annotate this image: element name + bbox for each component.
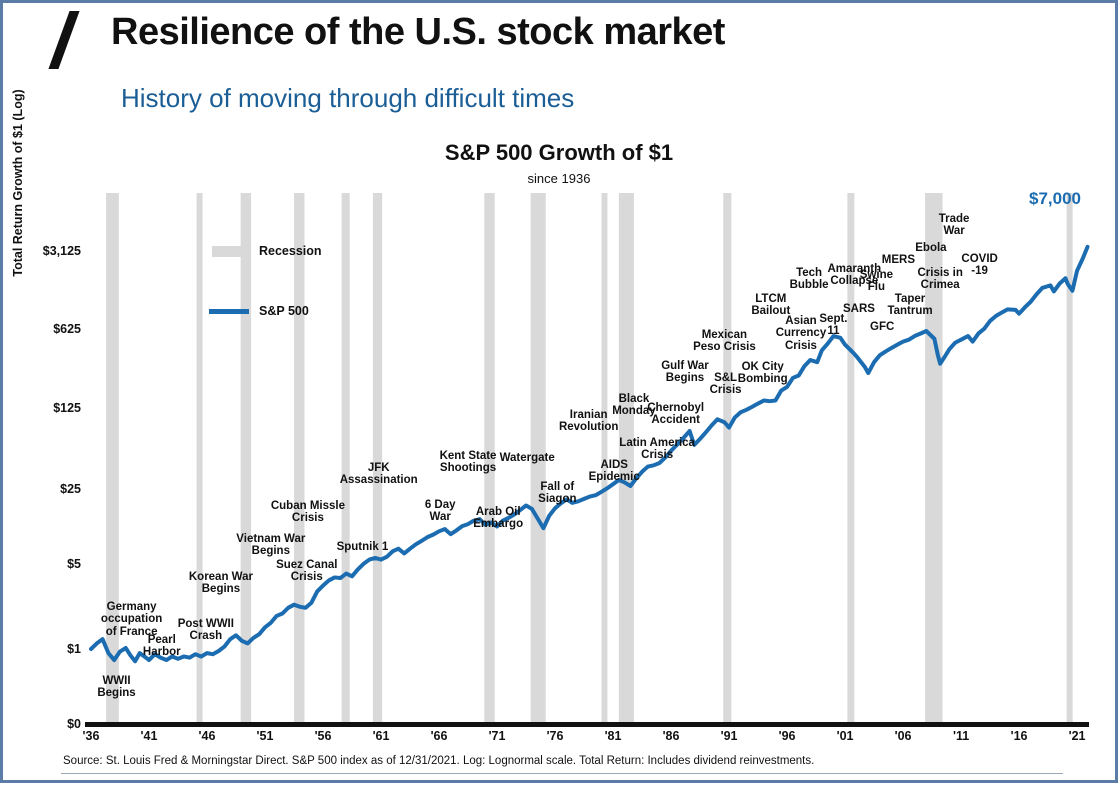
event-annotation: Germany occupation of France xyxy=(101,601,162,638)
recession-band xyxy=(1067,193,1073,724)
event-annotation: Cuban Missle Crisis xyxy=(271,500,345,525)
recession-band xyxy=(106,193,119,724)
source-note: Source: St. Louis Fred & Morningstar Dir… xyxy=(63,755,814,767)
y-tick-label: $625 xyxy=(53,322,81,336)
legend-series-label: S&P 500 xyxy=(259,304,309,318)
event-annotation: Pearl Harbor xyxy=(143,634,181,659)
slide-page: Resilience of the U.S. stock market Hist… xyxy=(0,0,1118,783)
legend-series-swatch xyxy=(209,309,249,314)
event-annotation: Tech Bubble xyxy=(790,267,829,292)
event-annotation: 6 Day War xyxy=(425,499,456,524)
legend-recession-label: Recession xyxy=(259,244,322,258)
chart-subtitle: since 1936 xyxy=(3,171,1115,186)
event-annotation: Kent State Shootings xyxy=(440,450,497,475)
x-tick-label: '76 xyxy=(547,729,564,743)
x-tick-label: '86 xyxy=(663,729,680,743)
source-rule xyxy=(61,773,1063,774)
event-annotation: AIDS Epidemic xyxy=(589,459,640,484)
event-annotation: Latin America Crisis xyxy=(619,437,695,462)
x-tick-label: '71 xyxy=(489,729,506,743)
end-value-label: $7,000 xyxy=(1029,189,1081,209)
y-tick-label: $0 xyxy=(67,717,81,731)
y-tick-label: $125 xyxy=(53,401,81,415)
event-annotation: S&L Crisis xyxy=(710,372,742,397)
event-annotation: Gulf War Begins xyxy=(661,360,709,385)
event-annotation: Ebola xyxy=(915,242,946,254)
x-tick-label: '11 xyxy=(953,729,969,743)
x-tick-label: '61 xyxy=(373,729,390,743)
event-annotation: Sept. 11 xyxy=(819,313,847,338)
recession-band xyxy=(373,193,382,724)
y-tick-label: $5 xyxy=(67,557,81,571)
event-annotation: Korean War Begins xyxy=(189,571,253,596)
x-tick-label: '66 xyxy=(431,729,448,743)
page-title: Resilience of the U.S. stock market xyxy=(111,11,725,54)
event-annotation: Swine Flu xyxy=(860,269,893,294)
event-annotation: JFK Assassination xyxy=(340,462,418,487)
event-annotation: Mexican Peso Crisis xyxy=(693,329,756,354)
x-tick-label: '56 xyxy=(315,729,332,743)
recession-band xyxy=(723,193,731,724)
x-tick-label: '01 xyxy=(837,729,854,743)
x-tick-label: '21 xyxy=(1069,729,1086,743)
event-annotation: WWII Begins xyxy=(97,675,135,700)
event-annotation: COVID -19 xyxy=(961,253,997,278)
x-axis-line xyxy=(85,722,1089,727)
chart-title: S&P 500 Growth of $1 xyxy=(3,140,1115,166)
y-axis-ticks: $3,125$625$125$25$5$1$0 xyxy=(3,3,81,786)
event-annotation: SARS xyxy=(843,303,875,315)
event-annotation: OK City Bombing xyxy=(738,361,788,386)
recession-band xyxy=(197,193,203,724)
legend-recession-swatch xyxy=(212,246,246,257)
y-tick-label: $1 xyxy=(67,642,81,656)
x-tick-label: '41 xyxy=(141,729,158,743)
x-tick-label: '36 xyxy=(83,729,100,743)
event-annotation: MERS xyxy=(882,254,915,266)
event-annotation: Vietnam War Begins xyxy=(236,533,305,558)
event-annotation: Fall of Siagon xyxy=(538,481,576,506)
recession-band xyxy=(294,193,304,724)
event-annotation: Iranian Revolution xyxy=(559,409,618,434)
page-subtitle: History of moving through difficult time… xyxy=(121,83,574,114)
x-tick-label: '46 xyxy=(199,729,216,743)
x-tick-label: '51 xyxy=(257,729,274,743)
x-tick-label: '96 xyxy=(779,729,796,743)
recession-band xyxy=(342,193,350,724)
event-annotation: Post WWII Crash xyxy=(178,618,234,643)
event-annotation: Chernobyl Accident xyxy=(647,402,704,427)
x-tick-label: '16 xyxy=(1011,729,1028,743)
event-annotation: Sputnik 1 xyxy=(337,541,389,553)
event-annotation: Watergate xyxy=(500,452,555,464)
event-annotation: Taper Tantrum xyxy=(887,293,932,318)
x-tick-label: '81 xyxy=(605,729,622,743)
event-annotation: Trade War xyxy=(939,213,970,238)
event-annotation: Suez Canal Crisis xyxy=(276,559,337,584)
y-tick-label: $25 xyxy=(60,482,81,496)
x-tick-label: '91 xyxy=(721,729,738,743)
x-tick-label: '06 xyxy=(895,729,912,743)
event-annotation: Crisis in Crimea xyxy=(917,267,962,292)
y-tick-label: $3,125 xyxy=(43,244,81,258)
event-annotation: GFC xyxy=(870,321,894,333)
event-annotation: Arab Oil Embargo xyxy=(473,506,523,531)
